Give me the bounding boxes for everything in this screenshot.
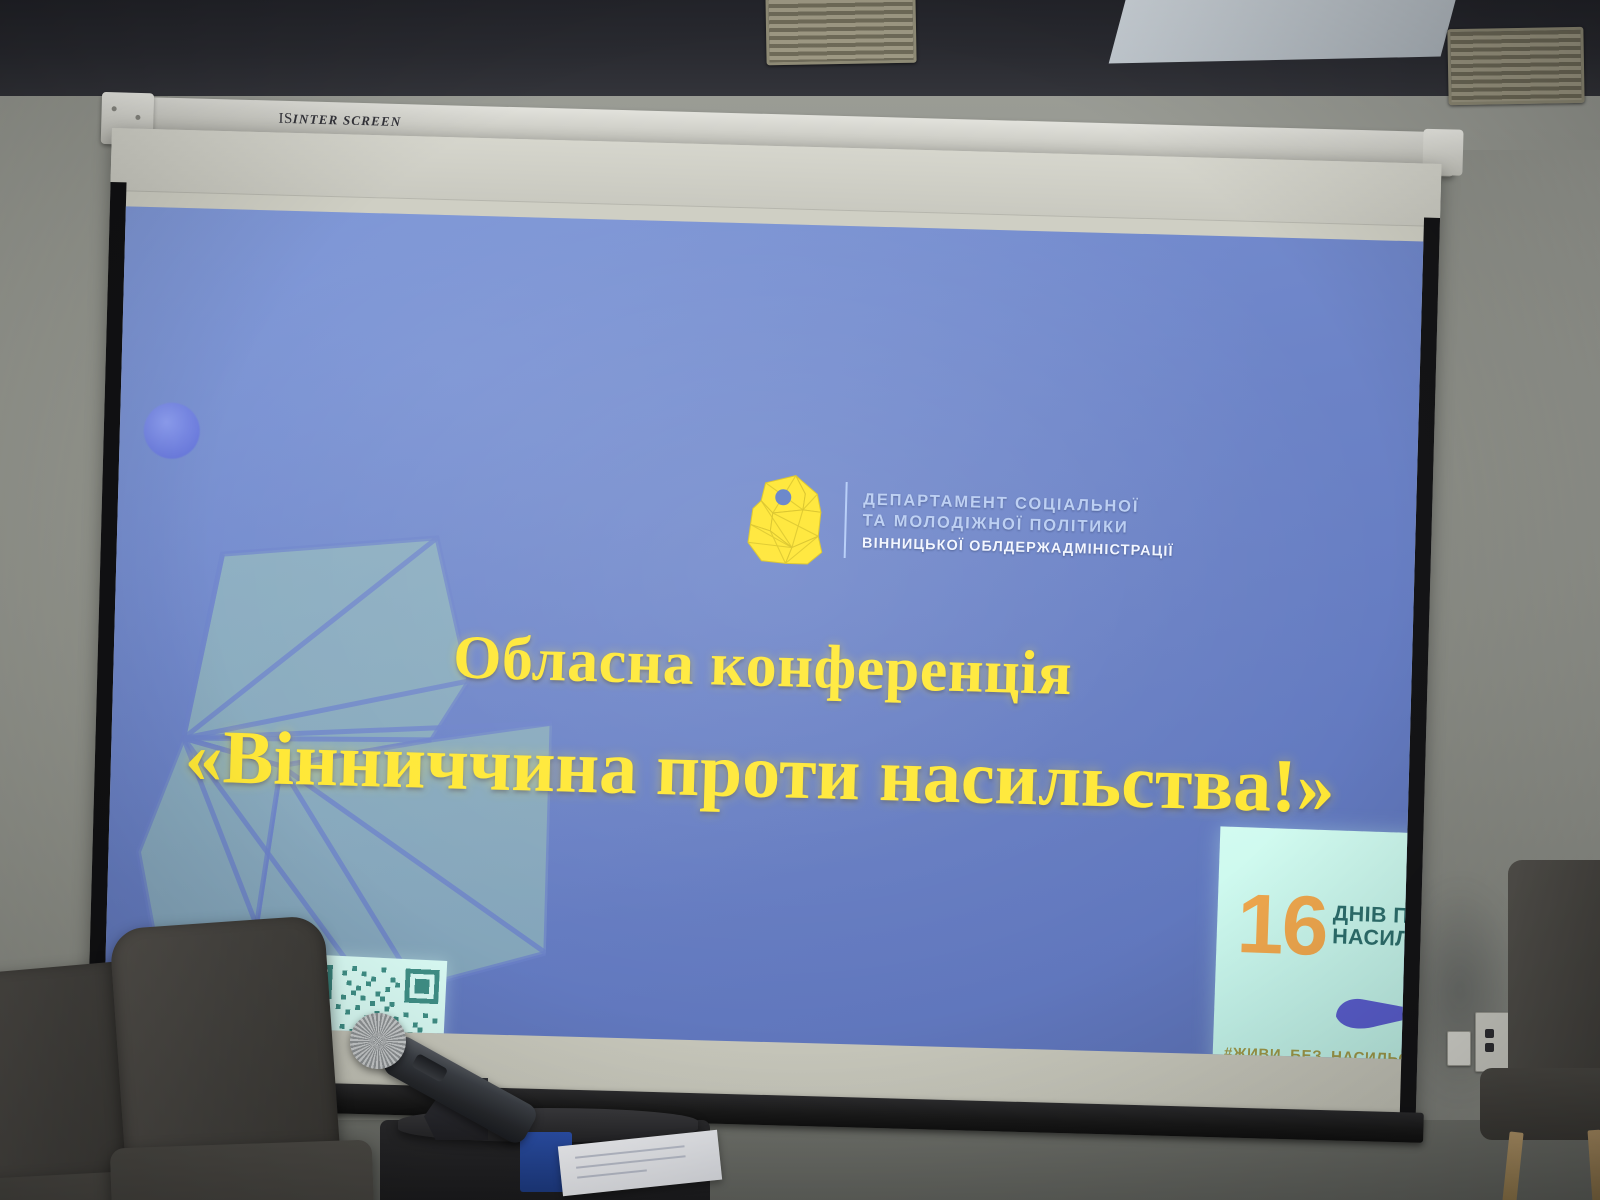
ceiling-vent-icon <box>765 0 916 65</box>
chair-backrest <box>1508 860 1600 1090</box>
logo-divider <box>844 482 848 558</box>
microphone-grille-icon <box>350 1013 406 1069</box>
oblast-map-logo-icon <box>741 468 830 568</box>
chair[interactable] <box>118 922 388 1200</box>
map-node-dot <box>143 402 200 459</box>
chair-leg <box>1588 1130 1600 1200</box>
screenshot-root: ISINTER SCREEN <box>0 0 1600 1200</box>
logo-line-3: ВІННИЦЬКОЇ ОБЛДЕРЖАДМІНІСТРАЦІЇ <box>862 535 1174 559</box>
slide-title-line-1: Обласна конференція <box>113 616 1412 716</box>
ceiling-vent-icon <box>1447 27 1584 105</box>
wall-switch[interactable] <box>1447 1031 1471 1066</box>
chair[interactable] <box>1472 980 1600 1200</box>
department-logo: ДЕПАРТАМЕНТ СОЦІАЛЬНОЇ ТА МОЛОДІЖНОЇ ПОЛ… <box>741 468 1175 578</box>
chair-seat <box>1480 1068 1600 1140</box>
ceiling-panel <box>1109 0 1462 63</box>
screen-brand-prefix: IS <box>278 111 293 127</box>
chair-seat <box>110 1139 376 1200</box>
screen-brand-label: ISINTER SCREEN <box>278 111 401 131</box>
screen-brand-name: INTER SCREEN <box>293 111 402 129</box>
badge-number: 16 <box>1236 889 1328 961</box>
slide-title-block: Обласна конференція «Вінниччина проти на… <box>110 616 1412 830</box>
chair-leg <box>1502 1131 1523 1200</box>
campaign-badge: 16 ДНІВ ПРОТИ НАСИЛЬСТВА #ЖИВИ_БЕЗ_НАСИЛ… <box>1211 826 1423 1059</box>
